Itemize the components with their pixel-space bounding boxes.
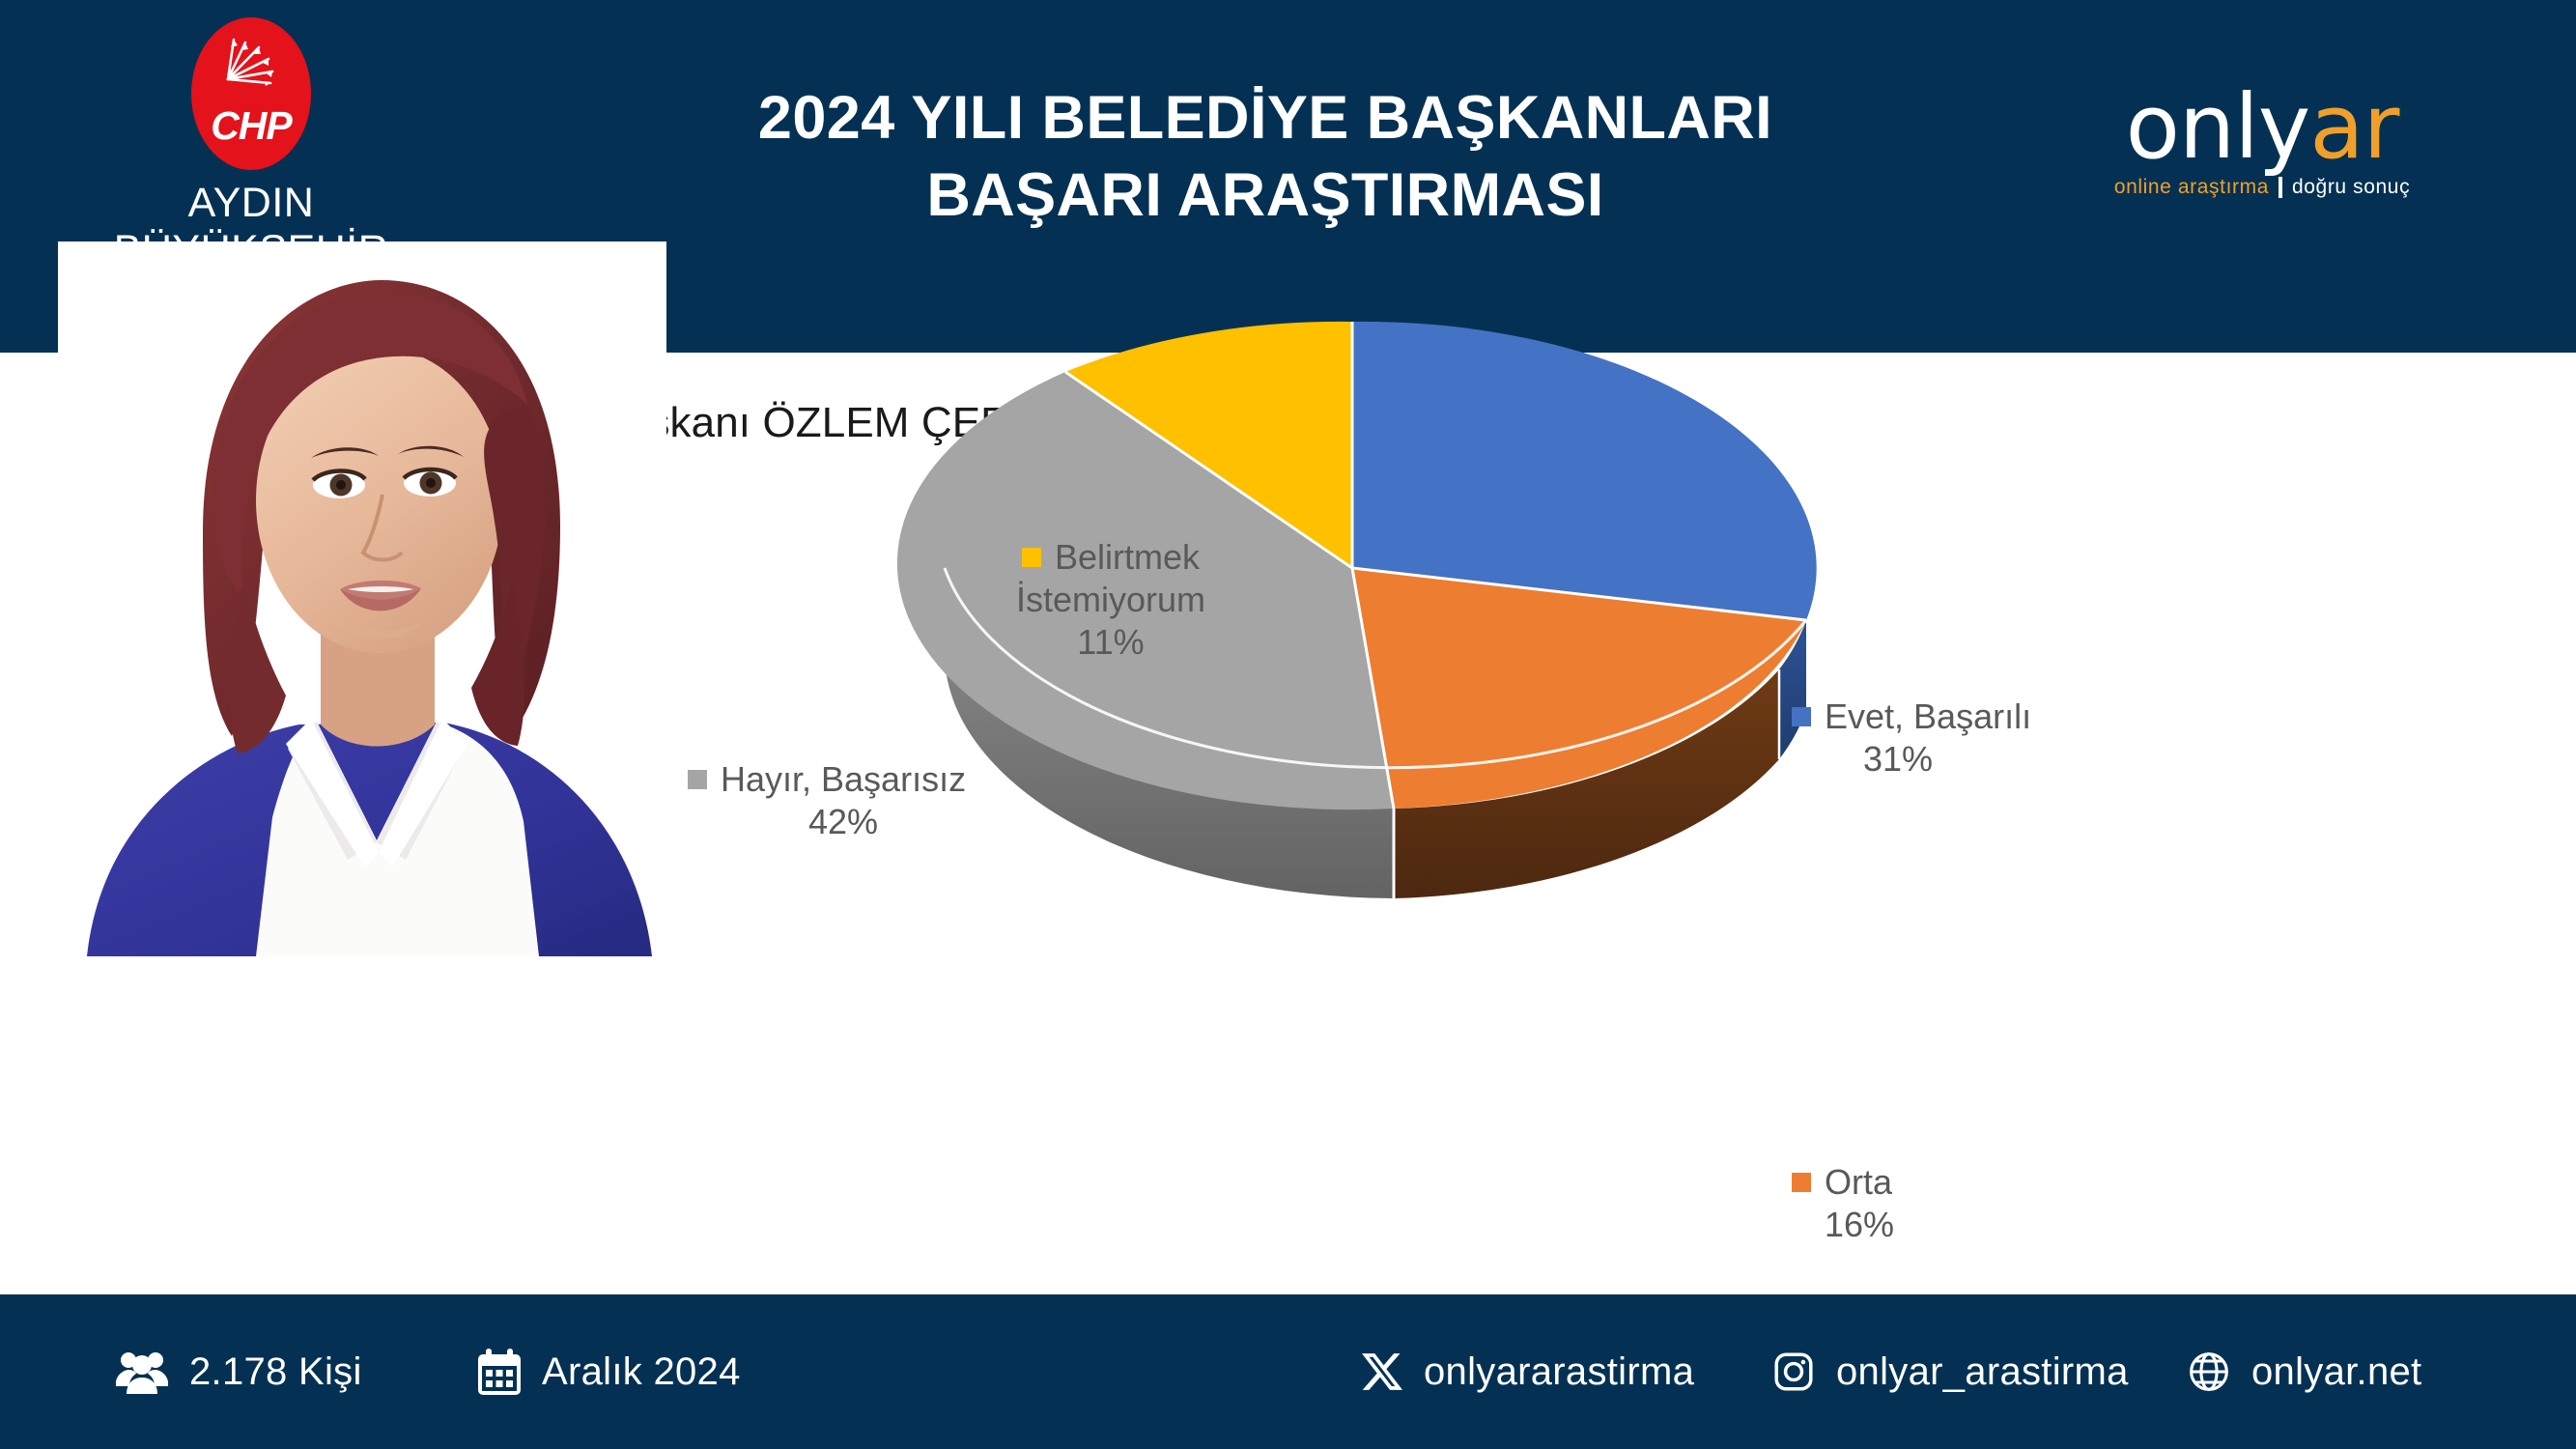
brand-line-1: AYDIN [188,180,315,226]
onlyar-wordmark: onlyar [2054,85,2470,170]
x-twitter-icon[interactable] [1362,1351,1402,1392]
instagram-icon[interactable] [1772,1350,1815,1393]
party-brand-block: CHP AYDIN BÜYÜKŞEHİR [87,17,415,273]
onlyar-word-part3: ar [2309,75,2398,179]
pie-label-belirtmek-name-line1: Belirtmek [1055,537,1200,577]
onlyar-tagline-separator [2279,177,2282,198]
footer-twitter-handle[interactable]: onlyararastirma [1424,1350,1694,1394]
globe-icon[interactable] [2188,1350,2230,1393]
onlyar-tagline: online araştırma doğru sonuç [2054,176,2470,199]
pie-label-hayir-value: 42% [688,801,966,843]
onlyar-word-part2: y [2258,75,2309,179]
pie-label-hayir-name: Hayır, Başarısız [721,759,966,799]
title-line-1: 2024 YILI BELEDİYE BAŞKANLARI [758,84,1772,152]
pie-label-hayir: Hayır, Başarısız 42% [688,758,966,843]
footer-instagram-handle[interactable]: onlyar_arastirma [1836,1350,2129,1394]
pie-label-belirtmek-name-line2: İstemiyorum [1016,580,1205,619]
legend-swatch-orta [1792,1173,1811,1192]
pie-label-evet: Evet, Başarılı 31% [1792,696,2031,781]
pie-label-evet-name: Evet, Başarılı [1825,696,2031,736]
people-icon [116,1350,168,1394]
infographic-poster: CHP AYDIN BÜYÜKŞEHİR 2024 YILI BELEDİYE … [0,0,2576,1449]
page-title: 2024 YILI BELEDİYE BAŞKANLARI BAŞARI ARA… [618,79,1912,234]
pie-label-belirtmek-value: 11% [956,621,1265,664]
footer-bar: 2.178 Kişi [0,1294,2576,1449]
pie-label-orta: Orta 16% [1792,1161,1894,1246]
chp-logo-text: CHP [191,103,311,149]
footer-sample-size: 2.178 Kişi [116,1350,362,1394]
pie-label-belirtmek: Belirtmek İstemiyorum 11% [956,536,1265,664]
footer-date: Aralık 2024 [478,1349,741,1395]
portrait-illustration [58,241,666,956]
pie-label-orta-name: Orta [1825,1162,1892,1202]
legend-swatch-hayir [688,770,707,789]
onlyar-logo: onlyar online araştırma doğru sonuç [2054,85,2470,199]
onlyar-tagline-left: online araştırma [2114,176,2269,199]
calendar-icon [478,1349,521,1395]
title-line-2: BAŞARI ARAŞTIRMASI [926,161,1603,229]
footer-date-text: Aralık 2024 [542,1350,741,1394]
footer-instagram[interactable]: onlyar_arastirma [1772,1350,2129,1394]
onlyar-tagline-right: doğru sonuç [2292,176,2410,199]
chp-logo: CHP [191,17,311,170]
onlyar-word-part1: onl [2126,75,2258,179]
footer-website[interactable]: onlyar.net [2188,1350,2421,1394]
pie-label-orta-value: 16% [1792,1204,1894,1246]
mayor-portrait-photo [58,241,666,956]
pie-label-evet-value: 31% [1792,738,2031,781]
legend-swatch-evet [1792,707,1811,726]
legend-swatch-belirtmek [1022,548,1041,567]
footer-twitter[interactable]: onlyararastirma [1362,1350,1694,1394]
footer-website-text[interactable]: onlyar.net [2251,1350,2421,1394]
footer-sample-size-text: 2.178 Kişi [189,1350,362,1394]
